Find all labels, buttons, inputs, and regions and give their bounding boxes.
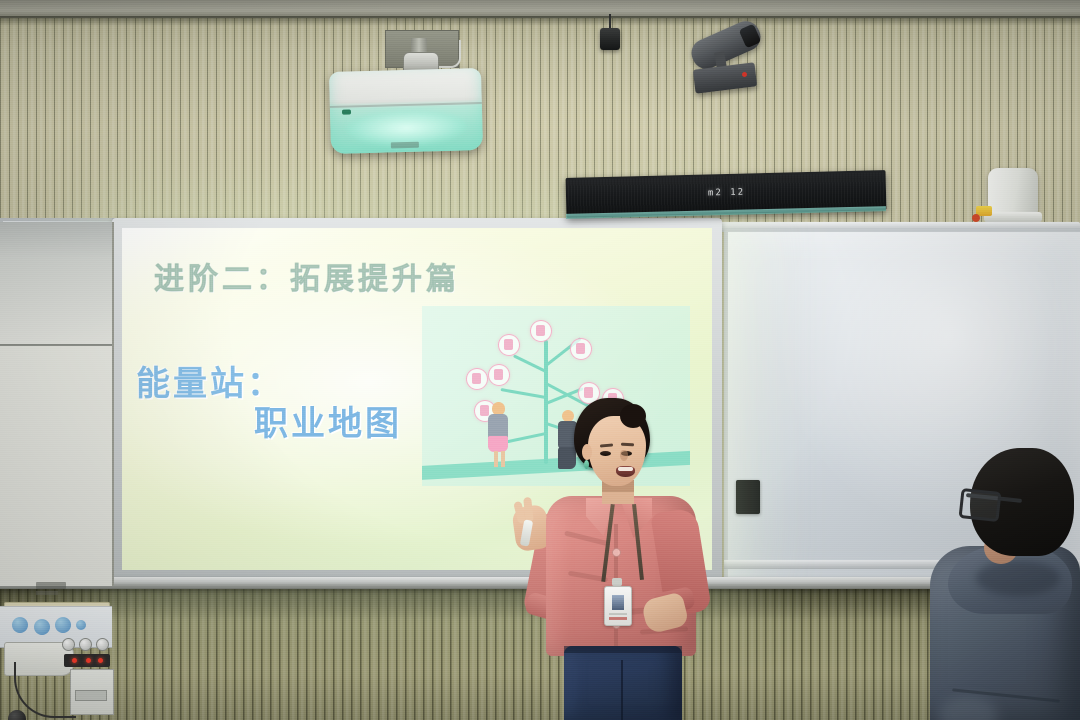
student-hood-shadow [976, 560, 1060, 596]
ptz-camera-base [984, 212, 1042, 222]
teaching-podium-cabinet[interactable] [0, 222, 114, 586]
power-led-icon [98, 658, 103, 663]
ptz-camera-indicator-icon [972, 214, 980, 222]
teacher-presenting [498, 398, 728, 720]
knob-icon[interactable] [96, 638, 109, 651]
student-foreground [930, 448, 1080, 720]
control-icon[interactable] [76, 620, 86, 630]
career-fruit-icon [488, 364, 510, 386]
projector-status-led-icon [342, 109, 351, 114]
camera-indicator-icon [742, 72, 747, 77]
projector-cable [437, 40, 461, 68]
classroom-scene: 进阶二：拓展提升篇 能量站： 职业地图 [0, 0, 1080, 720]
cabinet-top-panel [0, 222, 112, 346]
career-fruit-icon [498, 334, 520, 356]
badge-photo [612, 595, 624, 610]
ptz-camera [988, 168, 1038, 216]
ceiling-motion-sensor-icon [600, 28, 620, 50]
cabinet-brand-subtext [36, 591, 58, 595]
cabinet-interface-box[interactable] [70, 669, 114, 715]
teacher-hair-bun [620, 404, 646, 428]
control-icon[interactable] [12, 617, 28, 633]
slide-subtitle-secondary: 职业地图 [254, 396, 402, 445]
career-fruit-icon [570, 338, 592, 360]
earring-icon [584, 460, 589, 469]
career-fruit-icon [466, 368, 488, 390]
teacher-nose [620, 450, 628, 461]
control-icon[interactable] [34, 619, 50, 635]
shirt-button-icon [612, 548, 621, 557]
soundbar-led-display: m2 12 [708, 188, 745, 199]
upper-wall-slat-panel [0, 0, 1080, 232]
teacher-mouth-speaking [616, 466, 635, 477]
control-icon[interactable] [55, 617, 71, 633]
tree-branch [513, 354, 547, 372]
projector-seam [330, 102, 482, 108]
teacher-jeans [564, 646, 682, 720]
teacher-ear [582, 444, 592, 460]
knob-icon[interactable] [79, 638, 92, 651]
badge-clip-icon [612, 578, 622, 586]
projector-brand-mark [391, 142, 419, 149]
cabinet-brand-logo [36, 582, 66, 589]
slide-title: 进阶二：拓展提升篇 [154, 254, 460, 298]
id-badge [604, 586, 632, 626]
cabinet-knob-row[interactable] [62, 638, 110, 651]
ceiling-shadow [0, 16, 1080, 26]
career-fruit-icon [530, 320, 552, 342]
knob-icon[interactable] [62, 638, 75, 651]
ceiling-projector [329, 68, 483, 154]
cabinet-port-slot[interactable] [75, 690, 107, 701]
power-led-icon [86, 658, 91, 663]
board-mounted-module-icon [736, 480, 760, 514]
glasses-rim-icon [959, 488, 1002, 522]
